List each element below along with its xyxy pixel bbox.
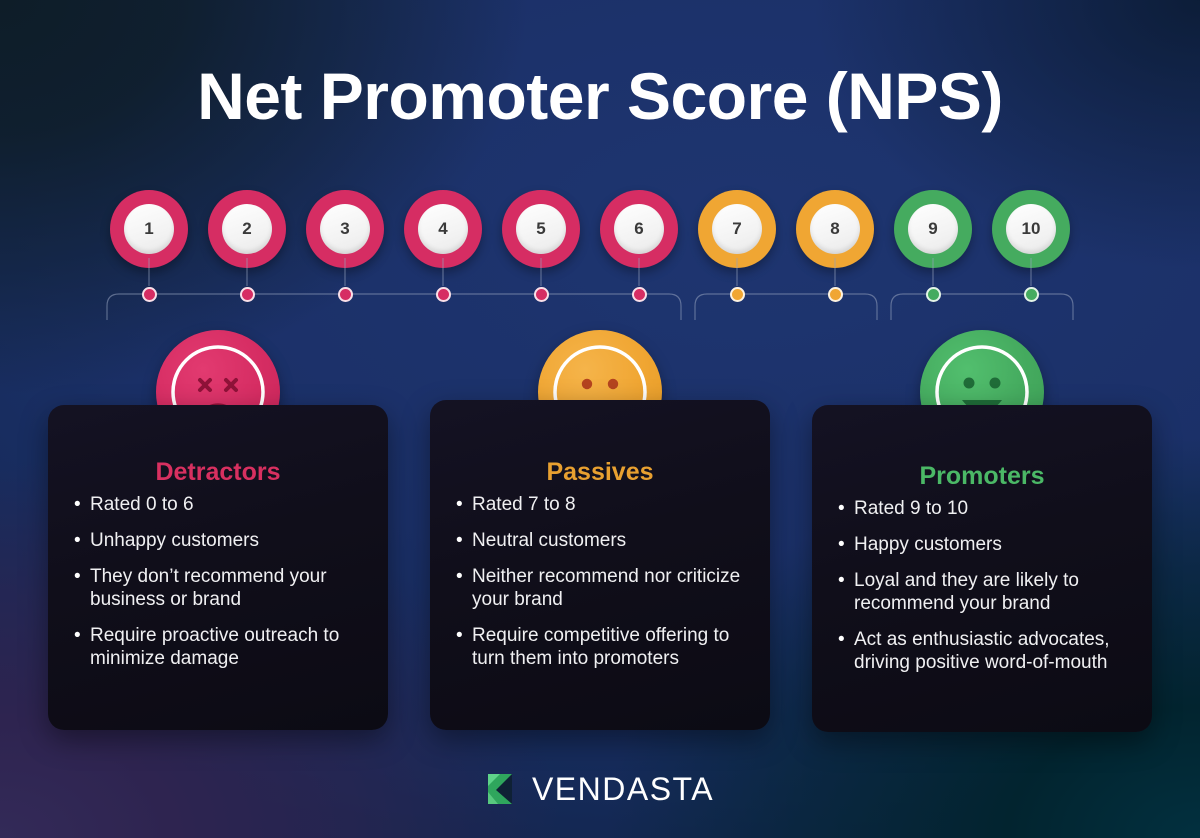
list-item: •Rated 0 to 6 xyxy=(74,494,366,517)
bullet-icon: • xyxy=(456,494,472,517)
score-value-7: 7 xyxy=(712,204,762,254)
brand-name: VENDASTA xyxy=(532,771,714,808)
score-value-10: 10 xyxy=(1006,204,1056,254)
list-item: •Require proactive outreach to minimize … xyxy=(74,625,366,671)
score-circle-8[interactable]: 8 xyxy=(796,190,874,268)
card-detractors[interactable]: Detractors•Rated 0 to 6•Unhappy customer… xyxy=(48,405,388,730)
scale-dot-markers xyxy=(0,258,1200,338)
card-title-promoters: Promoters xyxy=(812,462,1152,491)
score-circle-3[interactable]: 3 xyxy=(306,190,384,268)
bullet-icon: • xyxy=(74,625,90,648)
scale-dot-6 xyxy=(632,287,647,302)
bullet-icon: • xyxy=(838,629,854,652)
score-value-6: 6 xyxy=(614,204,664,254)
list-item: •Rated 9 to 10 xyxy=(838,498,1130,521)
bullet-icon: • xyxy=(456,566,472,589)
card-title-passives: Passives xyxy=(430,458,770,487)
list-item: •Rated 7 to 8 xyxy=(456,494,748,517)
infographic-canvas: Net Promoter Score (NPS) 12345678910 Det… xyxy=(0,0,1200,838)
score-value-2: 2 xyxy=(222,204,272,254)
list-item: •Act as enthusiastic advocates, driving … xyxy=(838,629,1130,675)
scale-dot-7 xyxy=(730,287,745,302)
bullet-text: Rated 9 to 10 xyxy=(854,498,1130,521)
scale-dot-4 xyxy=(436,287,451,302)
score-value-1: 1 xyxy=(124,204,174,254)
bullet-icon: • xyxy=(74,566,90,589)
bullet-text: Unhappy customers xyxy=(90,530,366,553)
scale-dot-3 xyxy=(338,287,353,302)
bullet-icon: • xyxy=(74,530,90,553)
bullet-icon: • xyxy=(838,498,854,521)
card-title-detractors: Detractors xyxy=(48,458,388,487)
card-promoters[interactable]: Promoters•Rated 9 to 10•Happy customers•… xyxy=(812,405,1152,732)
score-circle-2[interactable]: 2 xyxy=(208,190,286,268)
score-circle-7[interactable]: 7 xyxy=(698,190,776,268)
bullet-text: Neutral customers xyxy=(472,530,748,553)
bullet-text: They don’t recommend your business or br… xyxy=(90,566,366,612)
brand-logo: VENDASTA xyxy=(0,770,1200,808)
score-circle-1[interactable]: 1 xyxy=(110,190,188,268)
card-bullets-detractors: •Rated 0 to 6•Unhappy customers•They don… xyxy=(48,494,388,684)
bullet-text: Rated 7 to 8 xyxy=(472,494,748,517)
scale-dot-9 xyxy=(926,287,941,302)
list-item: •Unhappy customers xyxy=(74,530,366,553)
list-item: •Neither recommend nor criticize your br… xyxy=(456,566,748,612)
bullet-text: Require competitive offering to turn the… xyxy=(472,625,748,671)
score-circle-9[interactable]: 9 xyxy=(894,190,972,268)
bullet-text: Require proactive outreach to minimize d… xyxy=(90,625,366,671)
bullet-icon: • xyxy=(838,570,854,593)
bullet-icon: • xyxy=(456,625,472,648)
list-item: •Loyal and they are likely to recommend … xyxy=(838,570,1130,616)
page-title: Net Promoter Score (NPS) xyxy=(0,58,1200,134)
card-bullets-passives: •Rated 7 to 8•Neutral customers•Neither … xyxy=(430,494,770,684)
list-item: •Neutral customers xyxy=(456,530,748,553)
bullet-icon: • xyxy=(838,534,854,557)
bullet-text: Rated 0 to 6 xyxy=(90,494,366,517)
vendasta-logo-icon xyxy=(486,770,520,808)
bullet-icon: • xyxy=(74,494,90,517)
list-item: •Happy customers xyxy=(838,534,1130,557)
scale-dot-2 xyxy=(240,287,255,302)
score-value-4: 4 xyxy=(418,204,468,254)
scale-dot-10 xyxy=(1024,287,1039,302)
score-value-8: 8 xyxy=(810,204,860,254)
score-circle-5[interactable]: 5 xyxy=(502,190,580,268)
score-value-9: 9 xyxy=(908,204,958,254)
card-passives[interactable]: Passives•Rated 7 to 8•Neutral customers•… xyxy=(430,400,770,730)
bullet-text: Loyal and they are likely to recommend y… xyxy=(854,570,1130,616)
scale-dot-5 xyxy=(534,287,549,302)
score-circle-10[interactable]: 10 xyxy=(992,190,1070,268)
list-item: •They don’t recommend your business or b… xyxy=(74,566,366,612)
score-value-3: 3 xyxy=(320,204,370,254)
list-item: •Require competitive offering to turn th… xyxy=(456,625,748,671)
scale-dot-1 xyxy=(142,287,157,302)
bullet-text: Neither recommend nor criticize your bra… xyxy=(472,566,748,612)
card-bullets-promoters: •Rated 9 to 10•Happy customers•Loyal and… xyxy=(812,498,1152,688)
scale-dot-8 xyxy=(828,287,843,302)
bullet-text: Happy customers xyxy=(854,534,1130,557)
bullet-text: Act as enthusiastic advocates, driving p… xyxy=(854,629,1130,675)
bullet-icon: • xyxy=(456,530,472,553)
score-circle-6[interactable]: 6 xyxy=(600,190,678,268)
score-value-5: 5 xyxy=(516,204,566,254)
score-circle-4[interactable]: 4 xyxy=(404,190,482,268)
